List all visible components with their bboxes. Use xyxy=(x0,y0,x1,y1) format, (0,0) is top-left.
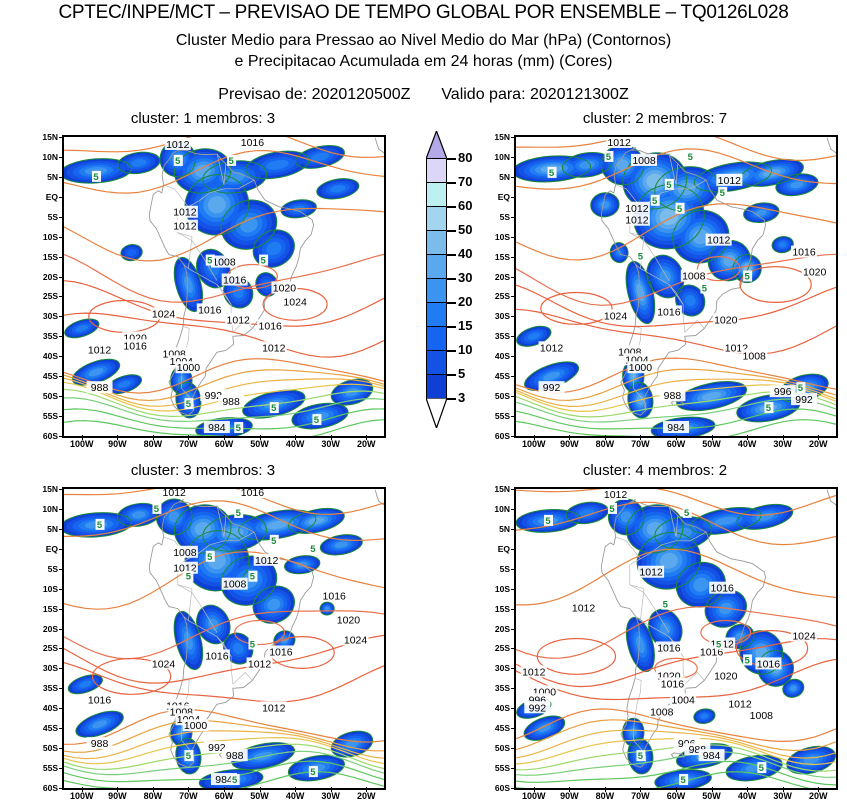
y-axis-tick xyxy=(511,237,516,238)
svg-text:1016: 1016 xyxy=(223,275,247,287)
y-axis-tick-label: 10N xyxy=(484,505,510,514)
y-axis-tick xyxy=(59,217,64,218)
x-axis-tick-label: 90W xyxy=(100,792,134,801)
svg-text:1012: 1012 xyxy=(707,235,731,247)
y-axis-tick-label: 5N xyxy=(484,525,510,534)
x-axis-tick xyxy=(188,435,189,440)
y-axis-tick-label: 45S xyxy=(32,372,58,381)
svg-text:1012: 1012 xyxy=(522,666,546,678)
x-axis-tick-label: 50W xyxy=(695,440,729,449)
x-axis-tick xyxy=(295,435,296,440)
y-axis-tick xyxy=(59,177,64,178)
y-axis-tick xyxy=(59,396,64,397)
y-axis-tick xyxy=(59,257,64,258)
x-axis-tick-label: 30W xyxy=(314,440,348,449)
y-axis-tick-label: 10S xyxy=(484,585,510,594)
y-axis-tick-label: 20S xyxy=(484,625,510,634)
y-axis-tick xyxy=(59,768,64,769)
colorbar-segment xyxy=(427,327,446,351)
svg-text:1012: 1012 xyxy=(625,215,649,227)
y-axis-tick xyxy=(511,708,516,709)
y-axis-tick xyxy=(59,197,64,198)
svg-text:1020: 1020 xyxy=(273,282,297,294)
svg-text:1008: 1008 xyxy=(173,547,197,559)
y-axis-tick xyxy=(511,396,516,397)
map-panel-cluster-4[interactable]: 1012101210161016101210161024102010161020… xyxy=(514,487,838,790)
svg-text:1020: 1020 xyxy=(714,314,738,326)
svg-text:5: 5 xyxy=(666,180,672,191)
y-axis-tick-label: EQ xyxy=(484,545,510,554)
y-axis-tick-label: 30S xyxy=(32,312,58,321)
y-axis-tick-label: 60S xyxy=(32,784,58,793)
colorbar-tick xyxy=(447,374,456,376)
svg-text:5: 5 xyxy=(310,544,316,555)
x-axis-tick xyxy=(534,787,535,792)
y-axis-tick xyxy=(59,237,64,238)
y-axis-tick xyxy=(511,688,516,689)
svg-text:5: 5 xyxy=(250,572,256,583)
svg-text:5: 5 xyxy=(549,168,555,179)
y-axis-tick xyxy=(511,257,516,258)
svg-text:1016: 1016 xyxy=(241,137,265,149)
svg-text:1016: 1016 xyxy=(269,646,293,658)
svg-text:5: 5 xyxy=(250,639,256,650)
x-axis-tick xyxy=(676,787,677,792)
svg-text:5: 5 xyxy=(798,383,804,394)
x-axis-tick xyxy=(605,435,606,440)
svg-text:1016: 1016 xyxy=(88,694,112,706)
x-axis-tick xyxy=(747,435,748,440)
svg-text:5: 5 xyxy=(232,775,238,786)
y-axis-tick xyxy=(511,137,516,138)
y-axis-tick xyxy=(59,509,64,510)
panel-caption-cluster-3: cluster: 3 membros: 3 xyxy=(20,462,386,479)
y-axis-tick-label: 25S xyxy=(484,644,510,653)
x-axis-tick-label: 20W xyxy=(801,792,835,801)
y-axis-tick-label: 55S xyxy=(32,764,58,773)
x-axis-tick xyxy=(82,787,83,792)
y-axis-tick xyxy=(59,609,64,610)
y-axis-tick xyxy=(59,648,64,649)
svg-text:1016: 1016 xyxy=(657,642,681,654)
y-axis-tick xyxy=(511,217,516,218)
y-axis-tick xyxy=(511,277,516,278)
svg-text:1016: 1016 xyxy=(711,583,735,595)
colorbar-tick xyxy=(447,254,456,256)
x-axis-tick xyxy=(366,435,367,440)
y-axis-tick-label: 30S xyxy=(32,664,58,673)
svg-text:1012: 1012 xyxy=(728,698,752,710)
y-axis-tick xyxy=(59,277,64,278)
y-axis-tick-label: 15S xyxy=(32,253,58,262)
svg-text:992: 992 xyxy=(543,382,561,394)
x-axis-tick xyxy=(818,787,819,792)
y-axis-tick-label: 40S xyxy=(32,704,58,713)
svg-text:5: 5 xyxy=(702,283,708,294)
svg-text:5: 5 xyxy=(720,188,726,199)
y-axis-tick-label: 40S xyxy=(484,704,510,713)
y-axis-tick xyxy=(511,668,516,669)
x-axis-tick xyxy=(712,787,713,792)
y-axis-tick xyxy=(59,356,64,357)
x-axis-tick-label: 50W xyxy=(243,792,277,801)
svg-text:996: 996 xyxy=(774,386,792,398)
y-axis-tick xyxy=(59,728,64,729)
y-axis-tick-label: 45S xyxy=(32,724,58,733)
x-axis-tick-label: 20W xyxy=(801,440,835,449)
svg-text:5: 5 xyxy=(314,415,320,426)
precipitation-colorbar: 80706050403020151053 xyxy=(418,131,484,441)
panel-caption-cluster-4: cluster: 4 membros: 2 xyxy=(472,462,838,479)
y-axis-tick-label: 10S xyxy=(32,233,58,242)
svg-text:1008: 1008 xyxy=(743,350,767,362)
x-axis-tick xyxy=(331,787,332,792)
svg-text:1012: 1012 xyxy=(639,567,663,579)
y-axis-tick-label: 5S xyxy=(32,213,58,222)
colorbar-tick-label: 20 xyxy=(458,295,472,308)
svg-text:5: 5 xyxy=(663,600,669,611)
x-axis-tick xyxy=(712,435,713,440)
svg-text:1016: 1016 xyxy=(205,650,229,662)
y-axis-tick-label: 15N xyxy=(484,485,510,494)
svg-text:1024: 1024 xyxy=(604,310,628,322)
svg-text:1024: 1024 xyxy=(152,308,176,320)
colorbar-tick xyxy=(447,350,456,352)
y-axis-tick-label: 10S xyxy=(484,233,510,242)
svg-text:1012: 1012 xyxy=(625,203,649,215)
y-axis-tick-label: 60S xyxy=(32,432,58,441)
colorbar-segment xyxy=(427,375,446,399)
svg-text:5: 5 xyxy=(207,552,213,563)
y-axis-tick xyxy=(59,376,64,377)
colorbar-segment xyxy=(427,231,446,255)
svg-text:1016: 1016 xyxy=(241,489,265,499)
svg-text:5: 5 xyxy=(677,204,683,215)
x-axis-tick xyxy=(260,435,261,440)
colorbar-tick-label: 3 xyxy=(458,391,465,404)
x-axis-tick-label: 40W xyxy=(278,792,312,801)
y-axis-tick-label: 45S xyxy=(484,724,510,733)
y-axis-tick xyxy=(511,356,516,357)
x-axis-tick-label: 70W xyxy=(623,440,657,449)
colorbar-segment xyxy=(427,255,446,279)
x-axis-tick xyxy=(534,435,535,440)
x-axis-tick xyxy=(640,787,641,792)
x-axis-tick xyxy=(224,787,225,792)
y-axis-tick xyxy=(59,316,64,317)
svg-text:5: 5 xyxy=(271,536,277,547)
svg-text:1012: 1012 xyxy=(540,342,564,354)
svg-text:1012: 1012 xyxy=(227,314,251,326)
y-axis-tick-label: 20S xyxy=(484,273,510,282)
y-axis-tick xyxy=(511,768,516,769)
map-canvas-cluster-1: 1012101610121012100810161020102410241016… xyxy=(64,137,384,436)
svg-text:1008: 1008 xyxy=(632,155,656,167)
svg-text:5: 5 xyxy=(716,639,722,650)
x-axis-tick-label: 60W xyxy=(659,440,693,449)
y-axis-tick xyxy=(511,549,516,550)
svg-text:1012: 1012 xyxy=(163,489,187,499)
y-axis-tick-label: 55S xyxy=(32,412,58,421)
y-axis-tick xyxy=(59,529,64,530)
colorbar-tick-label: 50 xyxy=(458,223,472,236)
colorbar-over-arrow-icon xyxy=(426,131,447,159)
svg-text:1012: 1012 xyxy=(255,555,279,567)
colorbar-segment xyxy=(427,279,446,303)
svg-text:1020: 1020 xyxy=(714,670,738,682)
y-axis-tick xyxy=(59,668,64,669)
y-axis-tick-label: 15N xyxy=(484,133,510,142)
svg-text:5: 5 xyxy=(271,403,277,414)
x-axis-tick xyxy=(569,435,570,440)
x-axis-tick xyxy=(295,787,296,792)
svg-text:5: 5 xyxy=(638,252,644,263)
x-axis-tick-label: 40W xyxy=(730,792,764,801)
y-axis-tick xyxy=(511,489,516,490)
colorbar-tick-label: 80 xyxy=(458,151,472,164)
y-axis-tick-label: 55S xyxy=(484,412,510,421)
forecast-dates: Previsao de: 2020120500Z Valido para: 20… xyxy=(0,86,847,104)
svg-text:988: 988 xyxy=(664,390,682,402)
x-axis-tick-label: 60W xyxy=(207,792,241,801)
svg-text:1012: 1012 xyxy=(607,137,631,149)
x-axis-tick xyxy=(224,435,225,440)
svg-text:984: 984 xyxy=(215,774,233,786)
y-axis-tick-label: 10N xyxy=(484,153,510,162)
y-axis-tick xyxy=(511,376,516,377)
x-axis-tick-label: 80W xyxy=(136,792,170,801)
y-axis-tick xyxy=(511,728,516,729)
y-axis-tick-label: 35S xyxy=(484,684,510,693)
page-title: CPTEC/INPE/MCT – PREVISAO DE TEMPO GLOBA… xyxy=(0,2,847,24)
x-axis-tick-label: 40W xyxy=(278,440,312,449)
map-panel-cluster-3[interactable]: 1012101610081012101210081016102010241024… xyxy=(62,487,386,790)
svg-text:1008: 1008 xyxy=(682,271,706,283)
svg-text:5: 5 xyxy=(606,152,612,163)
svg-text:1012: 1012 xyxy=(718,175,742,187)
subtitle-line-2: e Precipitacao Acumulada em 24 horas (mm… xyxy=(0,53,847,71)
y-axis-tick-label: 15N xyxy=(32,485,58,494)
colorbar-tick-label: 10 xyxy=(458,343,472,356)
x-axis-tick xyxy=(640,435,641,440)
y-axis-tick-label: 35S xyxy=(32,332,58,341)
x-axis-tick-label: 70W xyxy=(171,440,205,449)
svg-text:1012: 1012 xyxy=(262,702,286,714)
y-axis-tick-label: 60S xyxy=(484,432,510,441)
map-panel-cluster-2[interactable]: 1012100810121012101210121016102010081024… xyxy=(514,135,838,438)
y-axis-tick xyxy=(59,549,64,550)
svg-text:5: 5 xyxy=(744,272,750,283)
y-axis-tick xyxy=(59,157,64,158)
y-axis-tick-label: 15S xyxy=(32,605,58,614)
x-axis-tick xyxy=(117,435,118,440)
svg-text:1016: 1016 xyxy=(757,658,781,670)
map-canvas-cluster-4: 1012101210161016101210161024102010161020… xyxy=(516,489,836,788)
svg-text:984: 984 xyxy=(208,422,226,434)
y-axis-tick xyxy=(59,688,64,689)
y-axis-tick-label: 50S xyxy=(484,744,510,753)
y-axis-tick-label: 45S xyxy=(484,372,510,381)
y-axis-tick-label: 10N xyxy=(32,153,58,162)
svg-text:5: 5 xyxy=(236,508,242,519)
colorbar-under-arrow-icon xyxy=(426,398,447,428)
colorbar-tick xyxy=(447,230,456,232)
svg-text:5: 5 xyxy=(228,156,234,167)
y-axis-tick xyxy=(511,609,516,610)
y-axis-tick-label: 35S xyxy=(32,684,58,693)
colorbar-tick xyxy=(447,158,456,160)
y-axis-tick-label: 25S xyxy=(32,644,58,653)
colorbar-tick-label: 60 xyxy=(458,199,472,212)
subtitle-line-1: Cluster Medio para Pressao ao Nivel Medi… xyxy=(0,32,847,50)
y-axis-tick-label: 5N xyxy=(32,525,58,534)
x-axis-tick xyxy=(153,435,154,440)
x-axis-tick-label: 90W xyxy=(552,792,586,801)
map-canvas-cluster-2: 1012100810121012101210121016102010081024… xyxy=(516,137,836,436)
y-axis-tick-label: 50S xyxy=(32,392,58,401)
svg-text:5: 5 xyxy=(186,399,192,410)
y-axis-tick xyxy=(511,157,516,158)
y-axis-tick-label: 25S xyxy=(484,292,510,301)
x-axis-tick xyxy=(818,435,819,440)
x-axis-tick xyxy=(188,787,189,792)
svg-text:1008: 1008 xyxy=(223,579,247,591)
x-axis-tick-label: 70W xyxy=(623,792,657,801)
y-axis-tick-label: 10N xyxy=(32,505,58,514)
svg-text:988: 988 xyxy=(222,396,240,408)
svg-text:1008: 1008 xyxy=(212,257,236,269)
y-axis-tick-label: 35S xyxy=(484,332,510,341)
y-axis-tick-label: 10S xyxy=(32,585,58,594)
svg-text:5: 5 xyxy=(260,256,266,267)
y-axis-tick-label: EQ xyxy=(32,545,58,554)
x-axis-tick xyxy=(569,787,570,792)
y-axis-tick-label: 20S xyxy=(32,273,58,282)
colorbar-tick xyxy=(447,206,456,208)
svg-text:984: 984 xyxy=(667,422,685,434)
valid-for-label: Valido para: 2020121300Z xyxy=(441,86,628,103)
y-axis-tick-label: 40S xyxy=(484,352,510,361)
y-axis-tick-label: 5S xyxy=(484,213,510,222)
y-axis-tick xyxy=(59,436,64,437)
x-axis-tick-label: 90W xyxy=(552,440,586,449)
svg-text:1020: 1020 xyxy=(803,267,827,279)
x-axis-tick-label: 30W xyxy=(766,440,800,449)
y-axis-tick xyxy=(511,316,516,317)
x-axis-tick-label: 100W xyxy=(65,440,99,449)
x-axis-tick xyxy=(153,787,154,792)
colorbar-tick xyxy=(447,326,456,328)
colorbar-gradient xyxy=(426,158,447,398)
x-axis-tick-label: 50W xyxy=(243,440,277,449)
svg-text:5: 5 xyxy=(652,196,658,207)
y-axis-tick xyxy=(511,416,516,417)
map-panel-cluster-1[interactable]: 1012101610121012100810161020102410241016… xyxy=(62,135,386,438)
x-axis-tick xyxy=(783,787,784,792)
x-axis-tick xyxy=(366,787,367,792)
colorbar-tick-label: 5 xyxy=(458,367,465,380)
svg-text:1016: 1016 xyxy=(661,678,685,690)
svg-text:1012: 1012 xyxy=(572,603,596,615)
y-axis-tick-label: 55S xyxy=(484,764,510,773)
y-axis-tick xyxy=(59,629,64,630)
x-axis-tick-label: 100W xyxy=(65,792,99,801)
y-axis-tick xyxy=(59,708,64,709)
colorbar-tick xyxy=(447,182,456,184)
y-axis-tick xyxy=(59,748,64,749)
y-axis-tick xyxy=(511,629,516,630)
svg-text:1012: 1012 xyxy=(88,344,112,356)
svg-text:5: 5 xyxy=(759,763,765,774)
x-axis-tick-label: 80W xyxy=(588,440,622,449)
svg-text:1012: 1012 xyxy=(248,658,272,670)
svg-text:5: 5 xyxy=(207,256,213,267)
svg-text:1008: 1008 xyxy=(750,710,774,722)
y-axis-tick-label: 5S xyxy=(484,565,510,574)
colorbar-segment xyxy=(427,159,446,183)
colorbar-tick-label: 30 xyxy=(458,271,472,284)
y-axis-tick-label: 20S xyxy=(32,625,58,634)
panel-caption-cluster-1: cluster: 1 membros: 3 xyxy=(20,110,386,127)
colorbar-tick-label: 15 xyxy=(458,319,472,332)
y-axis-tick xyxy=(511,177,516,178)
x-axis-tick xyxy=(331,435,332,440)
y-axis-tick-label: 60S xyxy=(484,784,510,793)
y-axis-tick-label: 5S xyxy=(32,565,58,574)
svg-text:1016: 1016 xyxy=(657,306,681,318)
svg-text:5: 5 xyxy=(688,152,694,163)
y-axis-tick-label: 15S xyxy=(484,253,510,262)
svg-text:1016: 1016 xyxy=(792,247,816,259)
svg-text:984: 984 xyxy=(703,750,721,762)
x-axis-tick-label: 90W xyxy=(100,440,134,449)
x-axis-tick-label: 100W xyxy=(517,792,551,801)
svg-text:5: 5 xyxy=(545,516,551,527)
x-axis-tick xyxy=(676,435,677,440)
svg-text:1012: 1012 xyxy=(262,342,286,354)
y-axis-tick xyxy=(59,589,64,590)
x-axis-tick xyxy=(82,435,83,440)
y-axis-tick xyxy=(511,748,516,749)
svg-text:1008: 1008 xyxy=(650,706,674,718)
svg-text:5: 5 xyxy=(186,572,192,583)
svg-text:1016: 1016 xyxy=(198,304,222,316)
colorbar-segment xyxy=(427,183,446,207)
svg-text:1024: 1024 xyxy=(344,634,368,646)
x-axis-tick-label: 20W xyxy=(349,440,383,449)
svg-text:5: 5 xyxy=(97,520,103,531)
y-axis-tick xyxy=(59,137,64,138)
x-axis-tick-label: 60W xyxy=(207,440,241,449)
y-axis-tick-label: 15N xyxy=(32,133,58,142)
x-axis-tick xyxy=(783,435,784,440)
y-axis-tick xyxy=(511,509,516,510)
y-axis-tick-label: 30S xyxy=(484,312,510,321)
y-axis-tick xyxy=(511,436,516,437)
map-canvas-cluster-3: 1012101610081012101210081016102010241024… xyxy=(64,489,384,788)
colorbar-tick xyxy=(447,398,456,400)
svg-text:1020: 1020 xyxy=(337,615,361,627)
colorbar-tick xyxy=(447,278,456,280)
y-axis-tick-label: 25S xyxy=(32,292,58,301)
svg-text:5: 5 xyxy=(154,504,160,515)
y-axis-tick xyxy=(511,788,516,789)
svg-text:992: 992 xyxy=(795,394,813,406)
x-axis-tick-label: 20W xyxy=(349,792,383,801)
x-axis-tick-label: 30W xyxy=(766,792,800,801)
svg-text:5: 5 xyxy=(766,403,772,414)
y-axis-tick xyxy=(511,648,516,649)
